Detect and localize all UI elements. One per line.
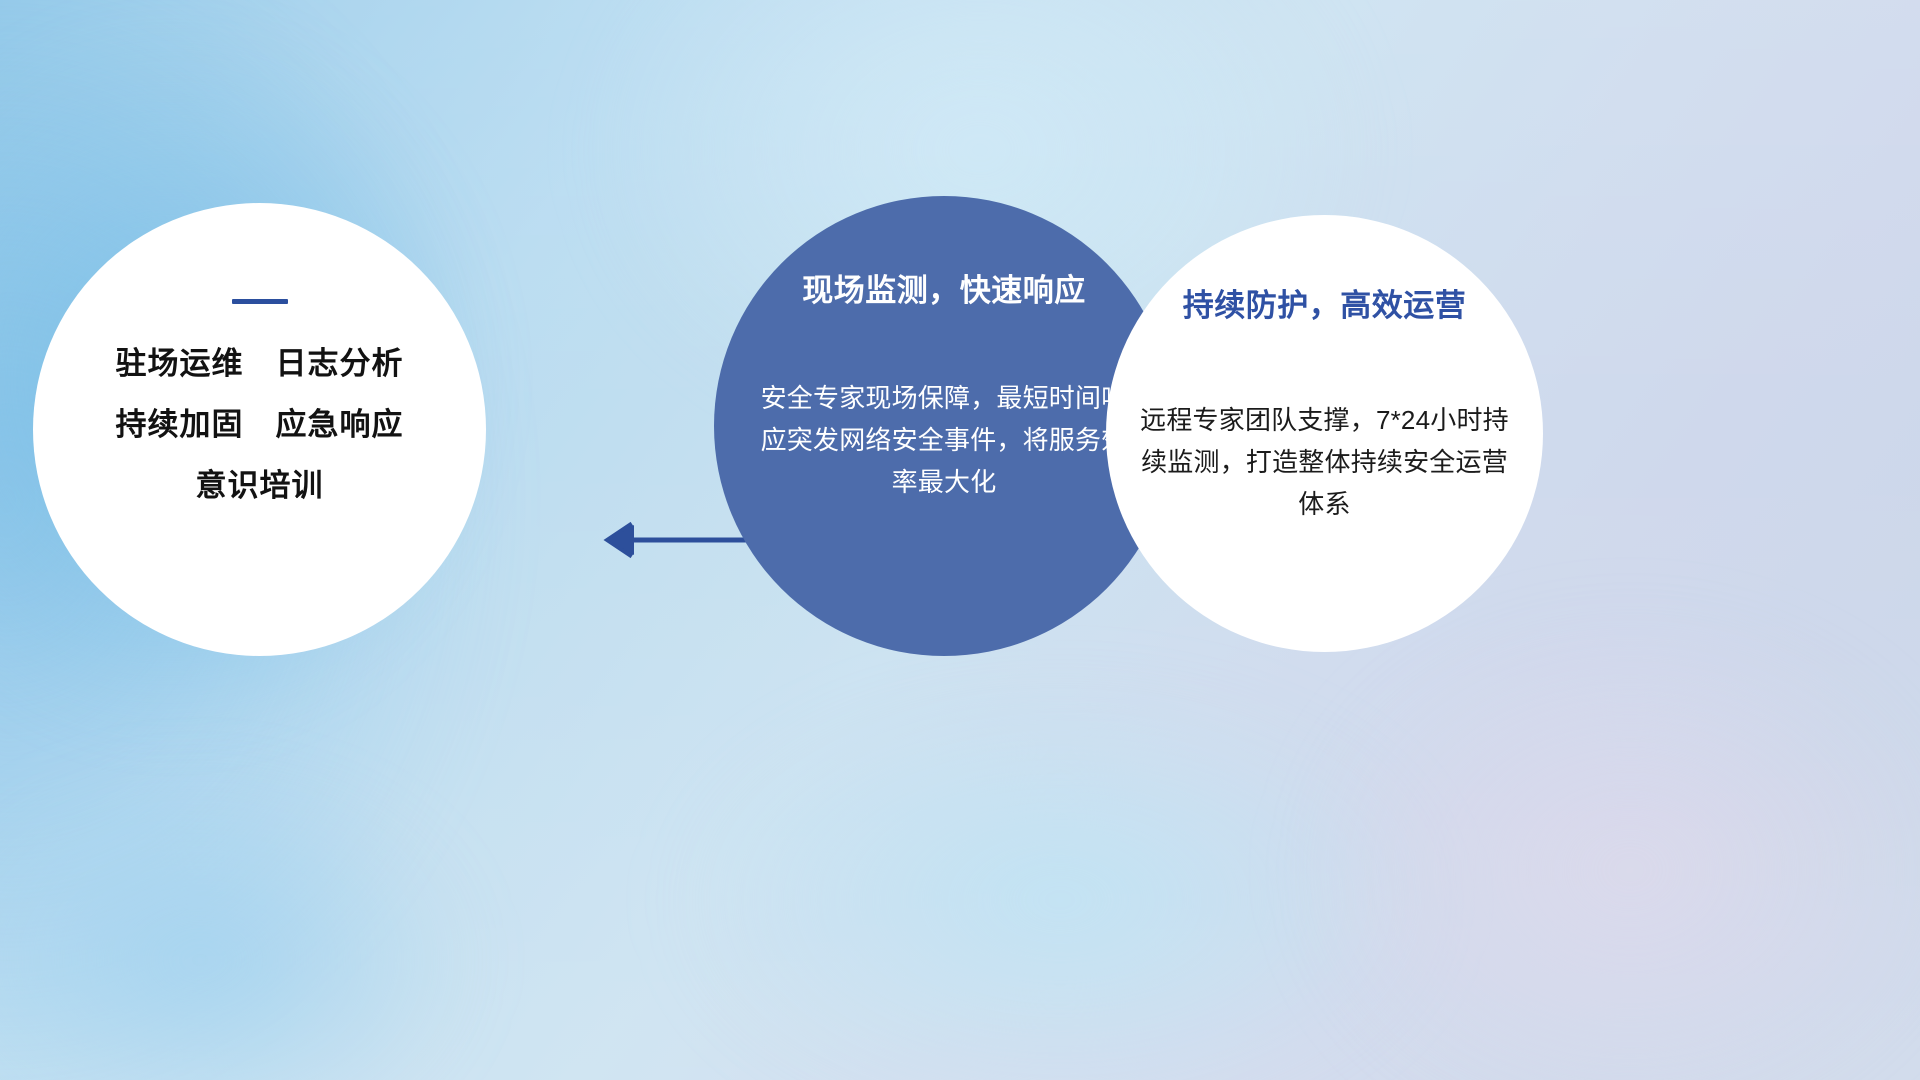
left-service-line-3: 意识培训 <box>33 470 486 501</box>
center-circle-content: 现场监测，快速响应 安全专家现场保障，最短时间响应突发网络安全事件，将服务效率最… <box>756 274 1132 503</box>
right-operations-circle: 持续防护，高效运营 远程专家团队支撑，7*24小时持续监测，打造整体持续安全运营… <box>1106 215 1543 652</box>
center-circle-body: 安全专家现场保障，最短时间响应突发网络安全事件，将服务效率最大化 <box>756 377 1132 503</box>
left-service-circle: 驻场运维 日志分析 持续加固 应急响应 意识培训 <box>33 203 486 656</box>
left-service-line-2: 持续加固 应急响应 <box>33 409 486 440</box>
left-circle-content: 驻场运维 日志分析 持续加固 应急响应 意识培训 <box>33 299 486 501</box>
center-monitoring-circle: 现场监测，快速响应 安全专家现场保障，最短时间响应突发网络安全事件，将服务效率最… <box>714 196 1174 656</box>
diagram-canvas: 驻场运维 日志分析 持续加固 应急响应 意识培训 现场监测，快速响应 安全专家现… <box>0 0 1920 1080</box>
left-service-line-1: 驻场运维 日志分析 <box>33 348 486 379</box>
right-circle-content: 持续防护，高效运营 远程专家团队支撑，7*24小时持续监测，打造整体持续安全运营… <box>1130 289 1519 525</box>
accent-dash-icon <box>232 299 288 304</box>
right-circle-body: 远程专家团队支撑，7*24小时持续监测，打造整体持续安全运营体系 <box>1130 399 1519 525</box>
right-circle-title: 持续防护，高效运营 <box>1130 289 1519 323</box>
center-circle-title: 现场监测，快速响应 <box>756 274 1132 308</box>
